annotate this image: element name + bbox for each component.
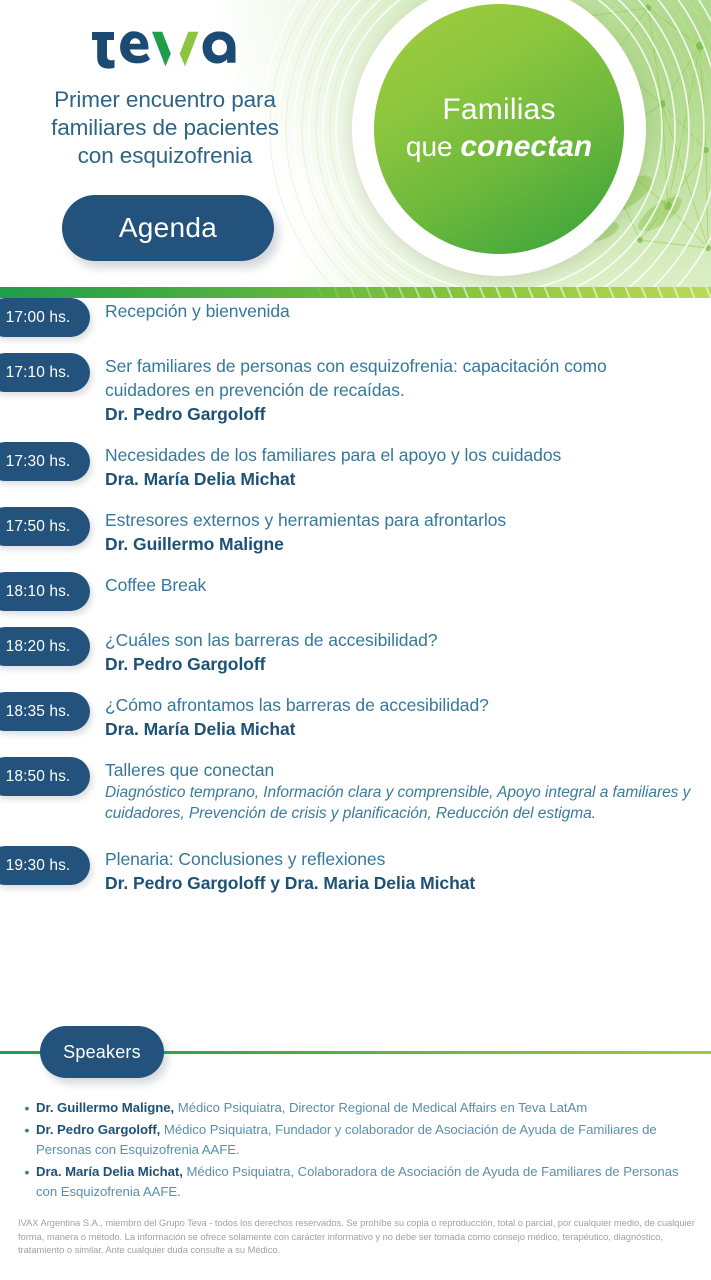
list-item: • Dra. María Delia Michat, Médico Psiqui…: [18, 1162, 698, 1202]
teva-logo-icon: [86, 18, 236, 72]
agenda-button-label: Agenda: [119, 212, 217, 244]
time-pill: 18:50 hs.: [0, 757, 90, 796]
agenda-row-title: Coffee Break: [105, 573, 695, 597]
time-label: 17:10 hs.: [6, 364, 71, 382]
agenda-row: 18:10 hs. Coffee Break: [0, 572, 711, 611]
agenda-row: 17:50 hs. Estresores externos y herramie…: [0, 507, 711, 556]
time-pill: 17:30 hs.: [0, 442, 90, 481]
agenda-button[interactable]: Agenda: [62, 195, 274, 261]
speaker-description: Médico Psiquiatra, Director Regional de …: [174, 1100, 587, 1115]
time-pill: 18:10 hs.: [0, 572, 90, 611]
time-pill: 18:20 hs.: [0, 627, 90, 666]
agenda-row: 18:20 hs. ¿Cuáles son las barreras de ac…: [0, 627, 711, 676]
badge-green-disc: Familias que conectan: [374, 4, 624, 254]
bullet-icon: •: [18, 1120, 36, 1140]
time-label: 18:20 hs.: [6, 638, 71, 656]
badge-line-2-emphasis: conectan: [460, 130, 592, 163]
agenda-row-title: ¿Cuáles son las barreras de accesibilida…: [105, 628, 695, 652]
event-agenda-flyer: Primer encuentro para familiares de paci…: [0, 0, 711, 1280]
agenda-row-body: Estresores externos y herramientas para …: [90, 507, 711, 556]
time-pill: 17:10 hs.: [0, 353, 90, 392]
bullet-icon: •: [18, 1098, 36, 1118]
agenda-row: 17:30 hs. Necesidades de los familiares …: [0, 442, 711, 491]
speakers-header: Speakers: [0, 1026, 711, 1078]
agenda-row-note: Diagnóstico temprano, Información clara …: [105, 782, 695, 824]
agenda-row-speaker: Dr. Pedro Gargoloff: [105, 402, 695, 426]
time-pill: 17:50 hs.: [0, 507, 90, 546]
agenda-list: 17:00 hs. Recepción y bienvenida 17:10 h…: [0, 298, 711, 911]
speaker-name: Dra. María Delia Michat,: [36, 1164, 183, 1179]
agenda-row-speaker: Dr. Pedro Gargoloff: [105, 652, 695, 676]
speakers-list: • Dr. Guillermo Maligne, Médico Psiquiat…: [18, 1098, 698, 1204]
agenda-row-title: Recepción y bienvenida: [105, 299, 695, 323]
agenda-row-speaker: Dr. Guillermo Maligne: [105, 532, 695, 556]
time-label: 17:30 hs.: [6, 453, 71, 471]
bullet-icon: •: [18, 1162, 36, 1182]
agenda-row-body: Ser familiares de personas con esquizofr…: [90, 353, 711, 426]
list-item: • Dr. Pedro Gargoloff, Médico Psiquiatra…: [18, 1120, 698, 1160]
time-pill: 18:35 hs.: [0, 692, 90, 731]
agenda-row-body: Talleres que conectan Diagnóstico tempra…: [90, 757, 711, 824]
agenda-row: 18:35 hs. ¿Cómo afrontamos las barreras …: [0, 692, 711, 741]
time-label: 17:50 hs.: [6, 518, 71, 536]
agenda-row: 17:10 hs. Ser familiares de personas con…: [0, 353, 711, 426]
speaker-name: Dr. Guillermo Maligne,: [36, 1100, 174, 1115]
speaker-bio: Dra. María Delia Michat, Médico Psiquiat…: [36, 1162, 698, 1202]
speakers-badge: Speakers: [40, 1026, 164, 1078]
time-label: 18:10 hs.: [6, 583, 71, 601]
divider-stripe-pattern: [0, 287, 711, 298]
agenda-row-body: ¿Cuáles son las barreras de accesibilida…: [90, 627, 711, 676]
agenda-row: 19:30 hs. Plenaria: Conclusiones y refle…: [0, 846, 711, 895]
event-subtitle: Primer encuentro para familiares de paci…: [10, 86, 320, 170]
agenda-row-title: Estresores externos y herramientas para …: [105, 508, 695, 532]
agenda-row-speaker: Dr. Pedro Gargoloff y Dra. Maria Delia M…: [105, 871, 695, 895]
badge-line-2: que conectan: [406, 129, 592, 165]
list-item: • Dr. Guillermo Maligne, Médico Psiquiat…: [18, 1098, 698, 1118]
green-divider-bar: [0, 287, 711, 298]
legal-disclaimer: IVAX Argentina S.A., miembro del Grupo T…: [18, 1216, 696, 1257]
time-label: 17:00 hs.: [6, 309, 71, 327]
header-banner: Primer encuentro para familiares de paci…: [0, 0, 711, 292]
time-label: 18:35 hs.: [6, 703, 71, 721]
agenda-row-body: Plenaria: Conclusiones y reflexiones Dr.…: [90, 846, 711, 895]
badge-line-1: Familias: [442, 93, 555, 127]
agenda-row-speaker: Dra. María Delia Michat: [105, 467, 695, 491]
agenda-row-body: ¿Cómo afrontamos las barreras de accesib…: [90, 692, 711, 741]
badge-line-2-plain: que: [406, 131, 461, 162]
agenda-row: 18:50 hs. Talleres que conectan Diagnóst…: [0, 757, 711, 824]
time-pill: 19:30 hs.: [0, 846, 90, 885]
familias-que-conectan-badge: Familias que conectan: [352, 0, 646, 276]
agenda-row-title: ¿Cómo afrontamos las barreras de accesib…: [105, 693, 695, 717]
speaker-name: Dr. Pedro Gargoloff,: [36, 1122, 160, 1137]
speaker-bio: Dr. Guillermo Maligne, Médico Psiquiatra…: [36, 1098, 698, 1118]
agenda-row-title: Ser familiares de personas con esquizofr…: [105, 354, 695, 402]
agenda-row-title: Talleres que conectan: [105, 758, 695, 782]
time-pill: 17:00 hs.: [0, 298, 90, 337]
agenda-row-body: Coffee Break: [90, 572, 711, 597]
time-label: 19:30 hs.: [6, 857, 71, 875]
agenda-row: 17:00 hs. Recepción y bienvenida: [0, 298, 711, 337]
agenda-row-body: Necesidades de los familiares para el ap…: [90, 442, 711, 491]
agenda-row-title: Plenaria: Conclusiones y reflexiones: [105, 847, 695, 871]
agenda-row-title: Necesidades de los familiares para el ap…: [105, 443, 695, 467]
time-label: 18:50 hs.: [6, 768, 71, 786]
agenda-row-speaker: Dra. María Delia Michat: [105, 717, 695, 741]
speakers-badge-label: Speakers: [63, 1042, 141, 1063]
agenda-row-body: Recepción y bienvenida: [90, 298, 711, 323]
speaker-bio: Dr. Pedro Gargoloff, Médico Psiquiatra, …: [36, 1120, 698, 1160]
